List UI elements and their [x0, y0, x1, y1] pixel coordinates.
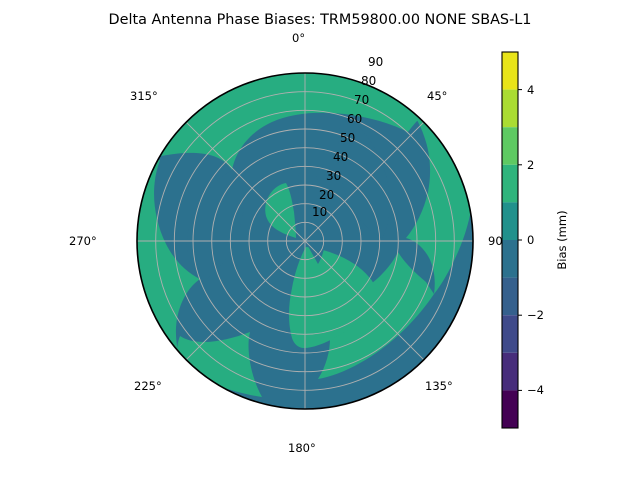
- colorbar-band-2: [502, 315, 518, 353]
- radial-tick-30: 30: [326, 169, 341, 183]
- colorbar-axis-label: Bias (mm): [555, 210, 569, 269]
- angular-tick-90: 90: [488, 234, 503, 248]
- radial-tick-70: 70: [354, 93, 369, 107]
- colorbar-band-1: [502, 353, 518, 391]
- colorbar-band-9: [502, 52, 518, 90]
- colorbar-band-7: [502, 127, 518, 165]
- angular-tick-315: 315°: [130, 89, 158, 103]
- radial-tick-10: 10: [312, 205, 327, 219]
- angular-tick-45: 45°: [427, 89, 447, 103]
- radial-tick-40: 40: [333, 150, 348, 164]
- colorbar-band-6: [502, 165, 518, 203]
- colorbar-tick-label-4: 4: [527, 83, 534, 97]
- colorbar-band-0: [502, 390, 518, 428]
- colorbar-band-8: [502, 90, 518, 128]
- angular-tick-225: 225°: [134, 379, 162, 393]
- radial-tick-60: 60: [347, 112, 362, 126]
- radial-tick-20: 20: [319, 188, 334, 202]
- colorbar-tick-label-neg2: −2: [527, 308, 544, 322]
- angular-tick-270: 270°: [69, 234, 97, 248]
- polar-figure: Delta Antenna Phase Biases: TRM59800.00 …: [0, 0, 640, 480]
- colorbar-tick-label-neg4: −4: [527, 383, 544, 397]
- colorbar-band-4: [502, 240, 518, 278]
- colorbar-tick-label-2: 2: [527, 158, 534, 172]
- colorbar-band-3: [502, 278, 518, 316]
- colorbar-tick-label-0: 0: [527, 233, 534, 247]
- radial-tick-80: 80: [361, 74, 376, 88]
- angular-tick-0: 0°: [292, 31, 305, 45]
- colorbar-band-5: [502, 202, 518, 240]
- radial-tick-90: 90: [368, 55, 383, 69]
- angular-tick-180: 180°: [288, 441, 316, 455]
- angular-gridlines: [137, 73, 473, 409]
- angular-tick-135: 135°: [425, 379, 453, 393]
- colorbar-bands: [502, 52, 518, 428]
- page-title: Delta Antenna Phase Biases: TRM59800.00 …: [109, 12, 532, 28]
- radial-tick-50: 50: [340, 131, 355, 145]
